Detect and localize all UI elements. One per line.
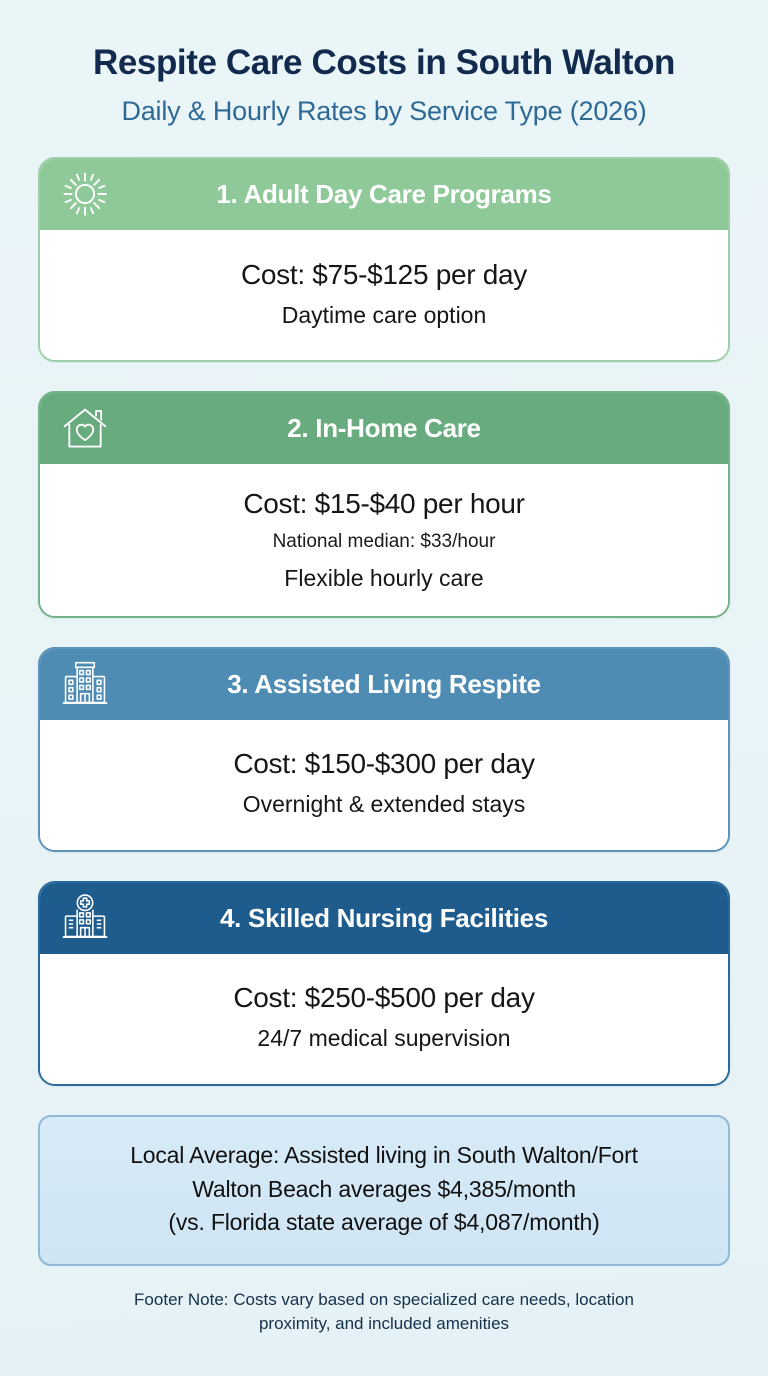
card-cost: Cost: $250-$500 per day xyxy=(56,980,712,1015)
home-heart-icon xyxy=(58,402,112,456)
card-cost: Cost: $150-$300 per day xyxy=(56,746,712,781)
footer-note-line-2: proximity, and included amenities xyxy=(50,1312,718,1336)
card-title: 2. In-Home Care xyxy=(40,413,728,444)
card-cost: Cost: $15-$40 per hour xyxy=(56,486,712,521)
card-description: Overnight & extended stays xyxy=(56,790,712,820)
card-header: 3. Assisted Living Respite xyxy=(40,649,728,720)
apartment-building-icon xyxy=(58,657,112,711)
footer-note: Footer Note: Costs vary based on special… xyxy=(38,1288,730,1336)
service-cards: 1. Adult Day Care Programs Cost: $75-$12… xyxy=(38,157,730,1086)
page-title: Respite Care Costs in South Walton xyxy=(38,44,730,83)
card-body: Cost: $250-$500 per day 24/7 medical sup… xyxy=(40,954,728,1084)
header: Respite Care Costs in South Walton Daily… xyxy=(38,0,730,127)
service-card-adult-day-care: 1. Adult Day Care Programs Cost: $75-$12… xyxy=(38,157,730,363)
card-body: Cost: $150-$300 per day Overnight & exte… xyxy=(40,720,728,850)
infographic-page: Respite Care Costs in South Walton Daily… xyxy=(0,0,768,1376)
card-body: Cost: $15-$40 per hour National median: … xyxy=(40,464,728,616)
footer-note-line-1: Footer Note: Costs vary based on special… xyxy=(50,1288,718,1312)
card-title: 3. Assisted Living Respite xyxy=(40,669,728,700)
sun-icon xyxy=(58,167,112,221)
local-average-line-1: Local Average: Assisted living in South … xyxy=(58,1139,710,1173)
card-description: Flexible hourly care xyxy=(56,564,712,594)
local-average-box: Local Average: Assisted living in South … xyxy=(38,1115,730,1266)
service-card-in-home-care: 2. In-Home Care Cost: $15-$40 per hour N… xyxy=(38,391,730,618)
hospital-icon xyxy=(58,891,112,945)
service-card-assisted-living: 3. Assisted Living Respite Cost: $150-$3… xyxy=(38,647,730,852)
card-header: 1. Adult Day Care Programs xyxy=(40,159,728,230)
card-header: 4. Skilled Nursing Facilities xyxy=(40,883,728,954)
card-title: 4. Skilled Nursing Facilities xyxy=(40,903,728,934)
card-body: Cost: $75-$125 per day Daytime care opti… xyxy=(40,230,728,361)
card-description: Daytime care option xyxy=(56,301,712,331)
service-card-skilled-nursing: 4. Skilled Nursing Facilities Cost: $250… xyxy=(38,881,730,1086)
card-cost: Cost: $75-$125 per day xyxy=(56,257,712,292)
card-header: 2. In-Home Care xyxy=(40,393,728,464)
local-average-line-3: (vs. Florida state average of $4,087/mon… xyxy=(58,1206,710,1240)
card-description: 24/7 medical supervision xyxy=(56,1024,712,1054)
page-subtitle: Daily & Hourly Rates by Service Type (20… xyxy=(38,96,730,127)
card-note: National median: $33/hour xyxy=(56,530,712,555)
local-average-line-2: Walton Beach averages $4,385/month xyxy=(58,1173,710,1207)
card-title: 1. Adult Day Care Programs xyxy=(40,179,728,210)
